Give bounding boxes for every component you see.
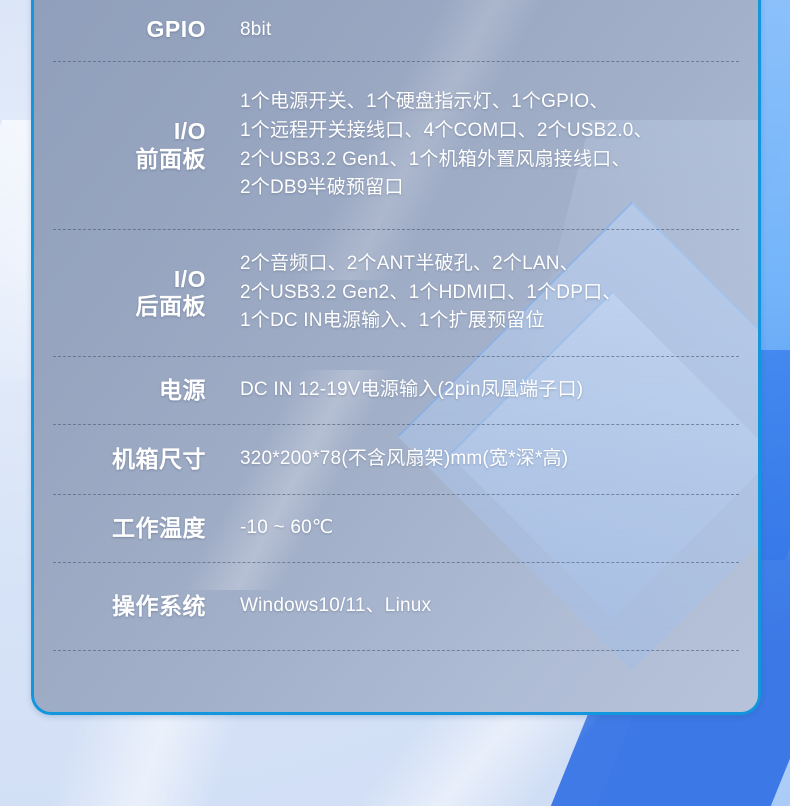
spec-value-chassis-size: 320*200*78(不含风扇架)mm(宽*深*高) bbox=[206, 445, 739, 474]
spec-value-power: DC IN 12-19V电源输入(2pin凤凰端子口) bbox=[206, 376, 739, 405]
spec-value-operating-temperature: -10 ~ 60℃ bbox=[206, 514, 739, 543]
spec-label-power: 电源 bbox=[53, 377, 206, 404]
spec-row-operating-system: 操作系统 Windows10/11、Linux bbox=[53, 562, 739, 651]
spec-row-power: 电源 DC IN 12-19V电源输入(2pin凤凰端子口) bbox=[53, 356, 739, 424]
spec-row-io-rear-panel: I/O 后面板 2个音频口、2个ANT半破孔、2个LAN、 2个USB3.2 G… bbox=[53, 229, 739, 356]
spec-label-io-front-panel: I/O 前面板 bbox=[53, 118, 206, 172]
spec-label-gpio: GPIO bbox=[53, 16, 206, 43]
spec-label-operating-system: 操作系统 bbox=[53, 593, 206, 620]
spec-label-chassis-size: 机箱尺寸 bbox=[53, 446, 206, 473]
specification-panel: GPIO 8bit I/O 前面板 1个电源开关、1个硬盘指示灯、1个GPIO、… bbox=[31, 0, 761, 715]
spec-row-io-front-panel: I/O 前面板 1个电源开关、1个硬盘指示灯、1个GPIO、 1个远程开关接线口… bbox=[53, 61, 739, 229]
spec-row-chassis-size: 机箱尺寸 320*200*78(不含风扇架)mm(宽*深*高) bbox=[53, 424, 739, 494]
spec-row-gpio: GPIO 8bit bbox=[53, 0, 739, 61]
spec-label-operating-temperature: 工作温度 bbox=[53, 515, 206, 542]
spec-table: GPIO 8bit I/O 前面板 1个电源开关、1个硬盘指示灯、1个GPIO、… bbox=[34, 0, 758, 651]
spec-label-io-rear-panel: I/O 后面板 bbox=[53, 266, 206, 320]
spec-value-gpio: 8bit bbox=[206, 16, 739, 45]
spec-value-io-rear-panel: 2个音频口、2个ANT半破孔、2个LAN、 2个USB3.2 Gen2、1个HD… bbox=[206, 250, 739, 337]
spec-value-operating-system: Windows10/11、Linux bbox=[206, 592, 739, 621]
spec-value-io-front-panel: 1个电源开关、1个硬盘指示灯、1个GPIO、 1个远程开关接线口、4个COM口、… bbox=[206, 88, 739, 204]
spec-row-operating-temperature: 工作温度 -10 ~ 60℃ bbox=[53, 494, 739, 562]
